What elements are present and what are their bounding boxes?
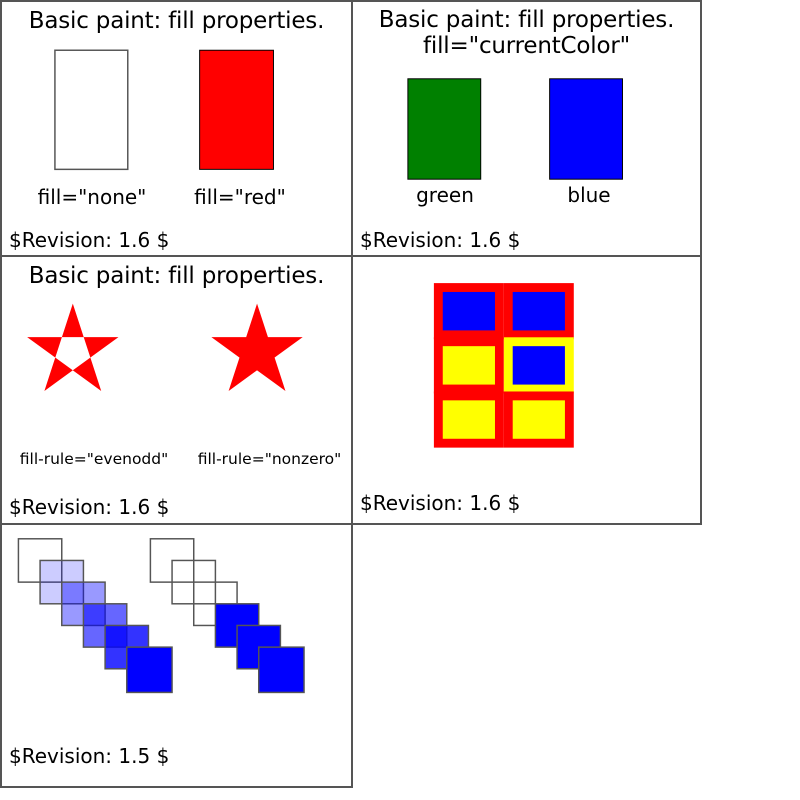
test-sheet: Basic paint: fill properties. fill="none… (0, 0, 800, 800)
grid-cell-2 (508, 288, 569, 335)
grid-cell-6 (508, 396, 569, 443)
star-evenodd (27, 304, 118, 391)
rect-blue (550, 79, 623, 179)
rect-fill-none (55, 50, 128, 169)
panel-fill-opacity: $Revision: 1.6 $ (351, 255, 702, 525)
label-fill-rule-evenodd: fill-rule="evenodd" (4, 451, 184, 468)
rect-fill-red (200, 50, 274, 169)
panel-title: Basic paint: fill properties. (2, 263, 351, 290)
star-nonzero (211, 304, 302, 391)
rect-green (408, 79, 481, 179)
revision-text: $Revision: 1.6 $ (9, 228, 169, 252)
fill-basic-graphic (2, 2, 351, 255)
fill-opacity-grid-graphic (353, 257, 700, 523)
panel-fill-rule: Basic paint: fill properties. fill-rule=… (0, 255, 353, 525)
panel-title: Basic paint: fill properties. (2, 8, 351, 35)
panel-title-line1: Basic paint: fill properties. (353, 7, 700, 33)
label-fill-red: fill="red" (180, 186, 300, 208)
fill-opacity-cascade (18, 539, 172, 693)
grid-cell-5 (438, 396, 499, 443)
panel-fill-basic: Basic paint: fill properties. fill="none… (0, 0, 353, 257)
label-fill-rule-nonzero: fill-rule="nonzero" (182, 451, 353, 468)
grid-cell-1 (438, 288, 499, 335)
label-blue: blue (539, 184, 639, 206)
panel-current-color: Basic paint: fill properties. fill="curr… (351, 0, 702, 257)
label-green: green (395, 184, 495, 206)
revision-text: $Revision: 1.6 $ (360, 228, 520, 252)
fill-rule-graphic (2, 257, 351, 523)
panel-opacity-group: $Revision: 1.5 $ (0, 523, 353, 788)
revision-text: $Revision: 1.6 $ (9, 495, 169, 519)
panel-title-line2: fill="currentColor" (353, 33, 700, 59)
label-fill-none: fill="none" (30, 186, 154, 208)
opacity-cascade (150, 539, 304, 693)
grid-cell-4 (508, 342, 569, 389)
revision-text: $Revision: 1.5 $ (9, 744, 169, 768)
revision-text: $Revision: 1.6 $ (360, 491, 520, 515)
grid-cell-3 (438, 342, 499, 389)
